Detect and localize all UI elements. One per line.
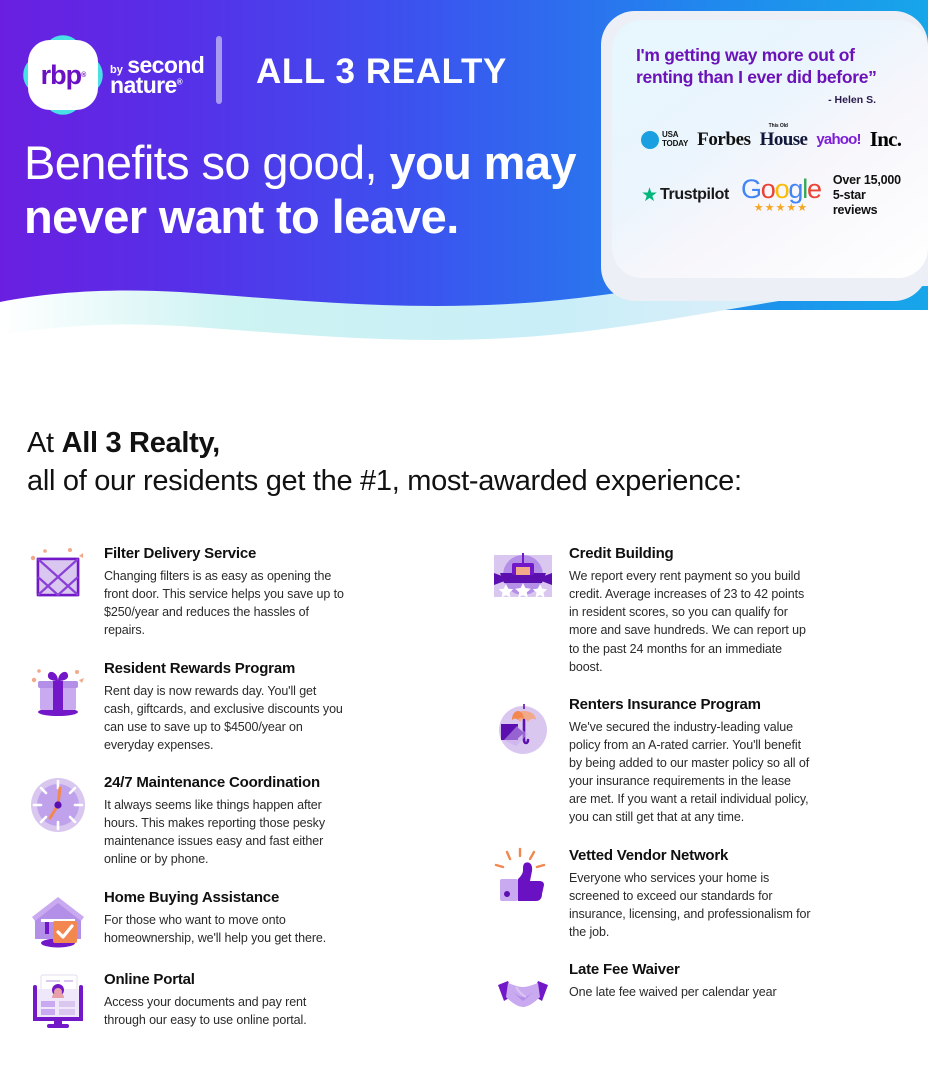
trustpilot-star-icon: ★ xyxy=(641,186,658,205)
benefit-item: Renters Insurance Program We've secured … xyxy=(492,696,912,827)
rbp-logo-text: rbp xyxy=(41,60,82,91)
house-check-icon xyxy=(27,889,89,951)
reviews-line1: Over 15,000 xyxy=(833,173,906,188)
google-label: Google xyxy=(741,176,821,203)
nature-label: nature xyxy=(110,72,177,98)
rbp-logo-lockup: rbp® by second nature® xyxy=(25,36,204,114)
benefit-item: Online Portal Access your documents and … xyxy=(27,971,427,1033)
benefit-title: 24/7 Maintenance Coordination xyxy=(104,774,427,792)
benefits-column-left: Filter Delivery Service Changing filters… xyxy=(27,545,427,1053)
benefit-description: Rent day is now rewards day. You'll get … xyxy=(104,682,344,755)
benefit-description: For those who want to move onto homeowne… xyxy=(104,911,344,947)
trustpilot-label: Trustpilot xyxy=(660,186,729,204)
umbrella-icon xyxy=(492,696,554,758)
rbp-logo-icon: rbp® xyxy=(25,36,101,114)
benefit-title: Home Buying Assistance xyxy=(104,889,427,907)
this-old-house-label: House xyxy=(760,129,808,151)
benefit-description: We report every rent payment so you buil… xyxy=(569,567,811,676)
headline-bold-part-2: never want to leave. xyxy=(24,190,459,243)
main-heading-company: All 3 Realty, xyxy=(62,427,220,459)
benefit-description: One late fee waived per calendar year xyxy=(569,983,811,1001)
handshake-icon xyxy=(492,961,554,1023)
main-heading-line2: all of our residents get the #1, most-aw… xyxy=(27,465,742,497)
headline-light-part: Benefits so good, xyxy=(24,136,389,189)
benefit-title: Renters Insurance Program xyxy=(569,696,912,714)
thumbs-up-icon xyxy=(492,847,554,909)
benefit-item: Home Buying Assistance For those who wan… xyxy=(27,889,427,951)
by-second-nature-wordmark: by second nature® xyxy=(110,54,204,97)
testimonial-card: I'm getting way more out of renting than… xyxy=(612,20,928,278)
benefit-item: Vetted Vendor Network Everyone who servi… xyxy=(492,847,912,942)
testimonial-attribution: - Helen S. xyxy=(636,94,906,106)
benefit-title: Filter Delivery Service xyxy=(104,545,427,563)
credit-badge-icon xyxy=(492,545,554,607)
reviews-line2: 5-star reviews xyxy=(833,188,906,218)
forbes-logo: Forbes xyxy=(697,129,751,151)
gift-icon xyxy=(27,660,89,722)
testimonial-quote: I'm getting way more out of renting than… xyxy=(636,44,906,88)
benefit-description: It always seems like things happen after… xyxy=(104,796,344,869)
headline-bold-part-1: you may xyxy=(389,136,576,189)
benefit-description: Everyone who services your home is scree… xyxy=(569,869,811,942)
trust-badge-row: ★ Trustpilot Google ★★★★★ Over 15,000 5-… xyxy=(636,173,906,217)
benefit-item: Credit Building We report every rent pay… xyxy=(492,545,912,676)
usa-today-dot-icon xyxy=(641,131,659,149)
main-heading-light: At xyxy=(27,427,62,459)
this-old-house-superscript: This Old xyxy=(769,123,788,129)
page-title: At All 3 Realty, all of our residents ge… xyxy=(27,424,877,501)
air-filter-icon xyxy=(27,545,89,607)
benefit-description: Changing filters is as easy as opening t… xyxy=(104,567,344,640)
hero-banner: rbp® by second nature® ALL 3 REALTY Bene… xyxy=(0,0,928,340)
benefit-title: Online Portal xyxy=(104,971,427,989)
yahoo-logo: yahoo! xyxy=(816,131,860,148)
this-old-house-logo: This Old House xyxy=(760,129,808,151)
benefit-title: Vetted Vendor Network xyxy=(569,847,912,865)
benefit-description: Access your documents and pay rent throu… xyxy=(104,993,344,1029)
benefit-item: Filter Delivery Service Changing filters… xyxy=(27,545,427,640)
reviews-count: Over 15,000 5-star reviews xyxy=(833,173,906,217)
benefit-item: Late Fee Waiver One late fee waived per … xyxy=(492,961,912,1023)
benefit-title: Resident Rewards Program xyxy=(104,660,427,678)
monitor-portal-icon xyxy=(27,971,89,1033)
inc-logo: Inc. xyxy=(870,127,902,152)
benefit-title: Late Fee Waiver xyxy=(569,961,912,979)
header-divider xyxy=(216,36,222,104)
hero-headline: Benefits so good, you may never want to … xyxy=(24,136,584,243)
benefits-column-right: Credit Building We report every rent pay… xyxy=(492,545,912,1043)
company-name: ALL 3 REALTY xyxy=(256,52,507,92)
benefit-item: 24/7 Maintenance Coordination It always … xyxy=(27,774,427,869)
trustpilot-logo: ★ Trustpilot xyxy=(641,186,729,205)
benefit-description: We've secured the industry-leading value… xyxy=(569,718,811,827)
clock-icon xyxy=(27,774,89,836)
usa-today-line2: TODAY xyxy=(662,140,688,148)
benefit-item: Resident Rewards Program Rent day is now… xyxy=(27,660,427,755)
google-logo: Google ★★★★★ xyxy=(741,176,821,214)
usa-today-logo: USA TODAY xyxy=(641,131,688,149)
press-logo-row: USA TODAY Forbes This Old House yahoo! I… xyxy=(636,127,906,152)
benefit-title: Credit Building xyxy=(569,545,912,563)
